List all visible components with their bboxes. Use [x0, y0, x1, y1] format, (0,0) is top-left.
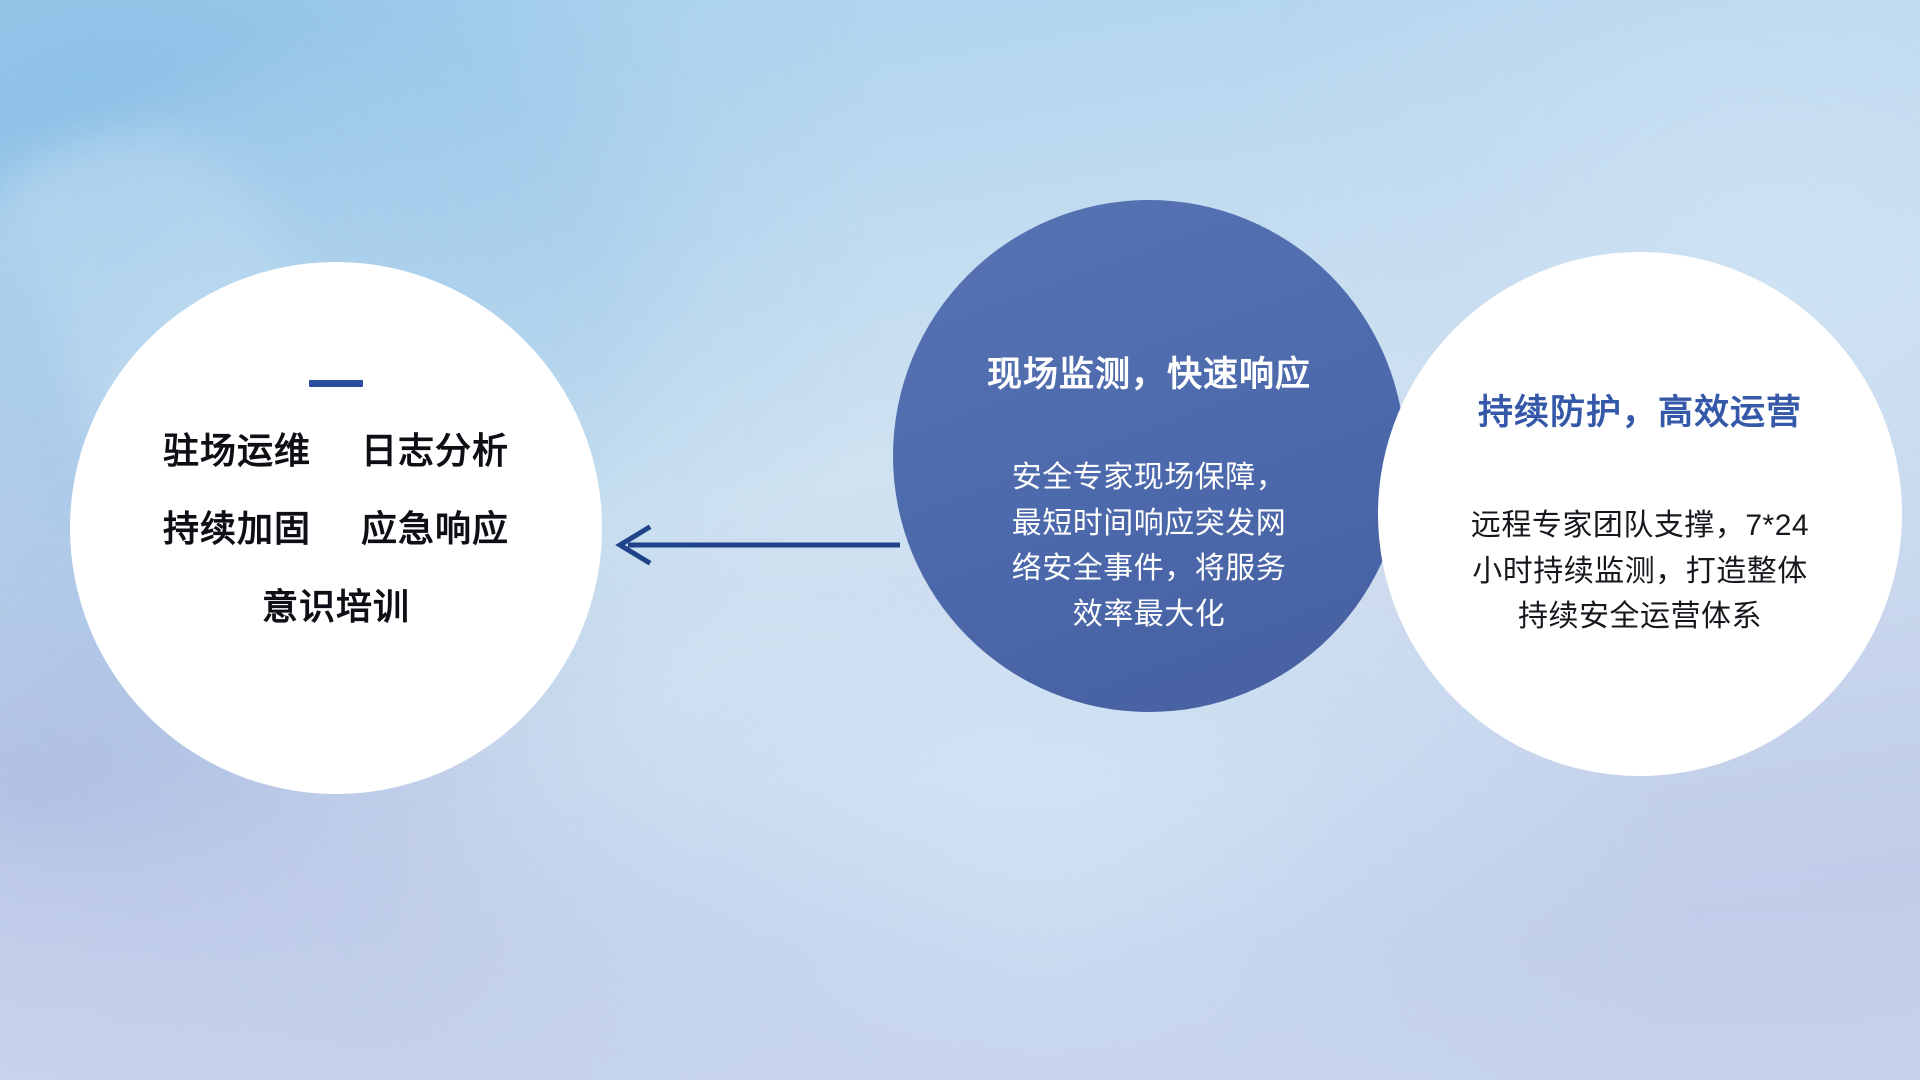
- onsite-title: 现场监测，快速响应: [893, 346, 1405, 397]
- capabilities-divider: [309, 380, 363, 387]
- capability-tag-3: 持续加固: [163, 508, 311, 549]
- capability-row-3: 意识培训: [70, 589, 602, 625]
- slide-canvas: 驻场运维 日志分析 持续加固 应急响应 意识培训 现场监测，快速响应 安全专家现…: [0, 0, 1920, 1080]
- onsite-body: 安全专家现场保障，最短时间响应突发网络安全事件，将服务效率最大化: [999, 455, 1299, 637]
- continuous-title: 持续防护，高效运营: [1378, 384, 1902, 435]
- arrow-left-icon: [600, 520, 900, 570]
- background-bottom-fade: [0, 780, 1920, 1080]
- node-onsite-circle[interactable]: 现场监测，快速响应 安全专家现场保障，最短时间响应突发网络安全事件，将服务效率最…: [893, 200, 1405, 712]
- capability-tag-2: 日志分析: [361, 430, 509, 471]
- connector-arrow-left: [600, 520, 900, 570]
- node-capabilities-circle[interactable]: 驻场运维 日志分析 持续加固 应急响应 意识培训: [70, 262, 602, 794]
- capability-tag-5: 意识培训: [262, 586, 410, 627]
- capability-row-2: 持续加固 应急响应: [70, 511, 602, 547]
- capability-tag-4: 应急响应: [361, 508, 509, 549]
- capability-tag-1: 驻场运维: [163, 430, 311, 471]
- node-continuous-circle[interactable]: 持续防护，高效运营 远程专家团队支撑，7*24小时持续监测，打造整体持续安全运营…: [1378, 252, 1902, 776]
- onsite-content: 现场监测，快速响应 安全专家现场保障，最短时间响应突发网络安全事件，将服务效率最…: [893, 346, 1405, 637]
- capabilities-content: 驻场运维 日志分析 持续加固 应急响应 意识培训: [70, 380, 602, 625]
- capability-row-1: 驻场运维 日志分析: [70, 433, 602, 469]
- continuous-content: 持续防护，高效运营 远程专家团队支撑，7*24小时持续监测，打造整体持续安全运营…: [1378, 384, 1902, 640]
- continuous-body: 远程专家团队支撑，7*24小时持续监测，打造整体持续安全运营体系: [1459, 503, 1821, 640]
